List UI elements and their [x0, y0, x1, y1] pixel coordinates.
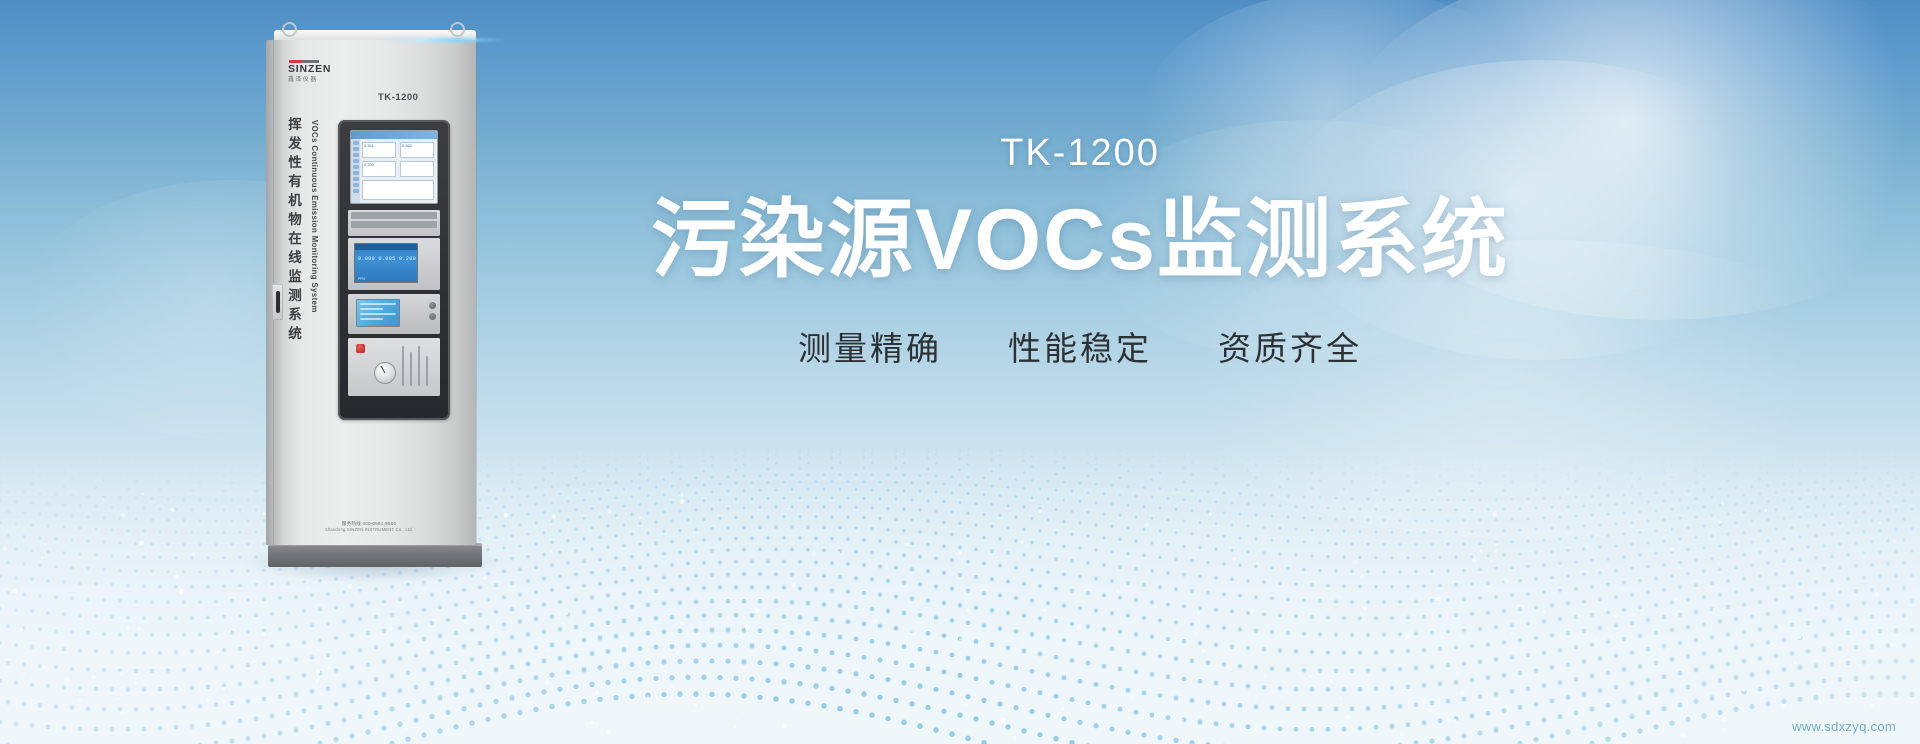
- feature-list: 测量精确 性能稳定 资质齐全: [600, 322, 1560, 370]
- tubing-assembly: [400, 346, 434, 390]
- product-model-title: TK-1200: [600, 130, 1560, 176]
- brand-logo: SINZEN 鑫泽仪器: [288, 60, 358, 84]
- site-watermark: www.sdxzyq.com: [1792, 719, 1896, 734]
- brand-name-chinese: 鑫泽仪器: [288, 76, 358, 84]
- hmi-sidebar: [351, 139, 360, 203]
- controller-display: [356, 299, 400, 327]
- feature-item: 性能稳定: [1008, 322, 1152, 370]
- cabinet-model-plate: TK-1200: [378, 92, 418, 103]
- door-handle: [272, 284, 283, 320]
- hmi-readout-value: 0.341: [363, 143, 395, 148]
- banner-headline: 污染源VOCs监测系统: [600, 192, 1560, 288]
- instrument-bay: 0.341 0.460 0.200: [338, 120, 450, 420]
- hmi-readout-value: 0.460: [401, 143, 433, 148]
- cabinet-footer-plate: 服务热线:400-0591-9680 Shandong SINZEN INSTR…: [294, 521, 444, 533]
- module-strip: [351, 212, 437, 219]
- knob-icon: [429, 302, 436, 309]
- controller-module: [348, 294, 440, 334]
- cabinet-plinth: [268, 543, 482, 567]
- lcd-display: 0.009 0.005 0.200 PPM: [354, 243, 418, 283]
- valve-gauge-module: [348, 338, 440, 396]
- knob-icon: [429, 313, 436, 320]
- product-cabinet-image: SINZEN 鑫泽仪器 TK-1200 挥发性有机物在线监测系统 VOCs Co…: [258, 22, 488, 567]
- light-streak: [378, 38, 508, 42]
- footer-company-text: Shandong SINZEN INSTRUMENT Co., Ltd.: [294, 527, 444, 533]
- hmi-readout-grid: 0.341 0.460 0.200: [362, 142, 435, 201]
- product-banner: SINZEN 鑫泽仪器 TK-1200 挥发性有机物在线监测系统 VOCs Co…: [0, 0, 1920, 744]
- controller-knobs: [429, 302, 436, 324]
- lcd-reading: 0.009 0.005 0.200: [355, 250, 417, 262]
- banner-copy-block: TK-1200 污染源VOCs监测系统 测量精确 性能稳定 资质齐全: [600, 130, 1560, 370]
- feature-item: 资质齐全: [1218, 322, 1362, 370]
- lcd-unit: PPM: [358, 277, 365, 281]
- brand-name-text: SINZEN: [288, 64, 358, 75]
- emergency-button-icon: [356, 344, 365, 353]
- module-strip: [351, 221, 437, 228]
- lifting-ring-icon: [450, 22, 465, 37]
- hmi-titlebar: [351, 131, 437, 139]
- feature-item: 测量精确: [798, 322, 942, 370]
- cabinet-vertical-chinese-text: 挥发性有机物在线监测系统: [286, 117, 301, 345]
- analyser-module-lcd: 0.009 0.005 0.200 PPM: [348, 238, 440, 290]
- hmi-readout-value: 0.200: [363, 162, 395, 167]
- analyser-module-top: [348, 210, 440, 236]
- lifting-ring-icon: [282, 22, 297, 37]
- cabinet-vertical-english-text: VOCs Continuous Emission Monitoring Syst…: [310, 120, 319, 313]
- pressure-gauge-icon: [374, 362, 396, 384]
- hmi-touchscreen: 0.341 0.460 0.200: [350, 130, 438, 204]
